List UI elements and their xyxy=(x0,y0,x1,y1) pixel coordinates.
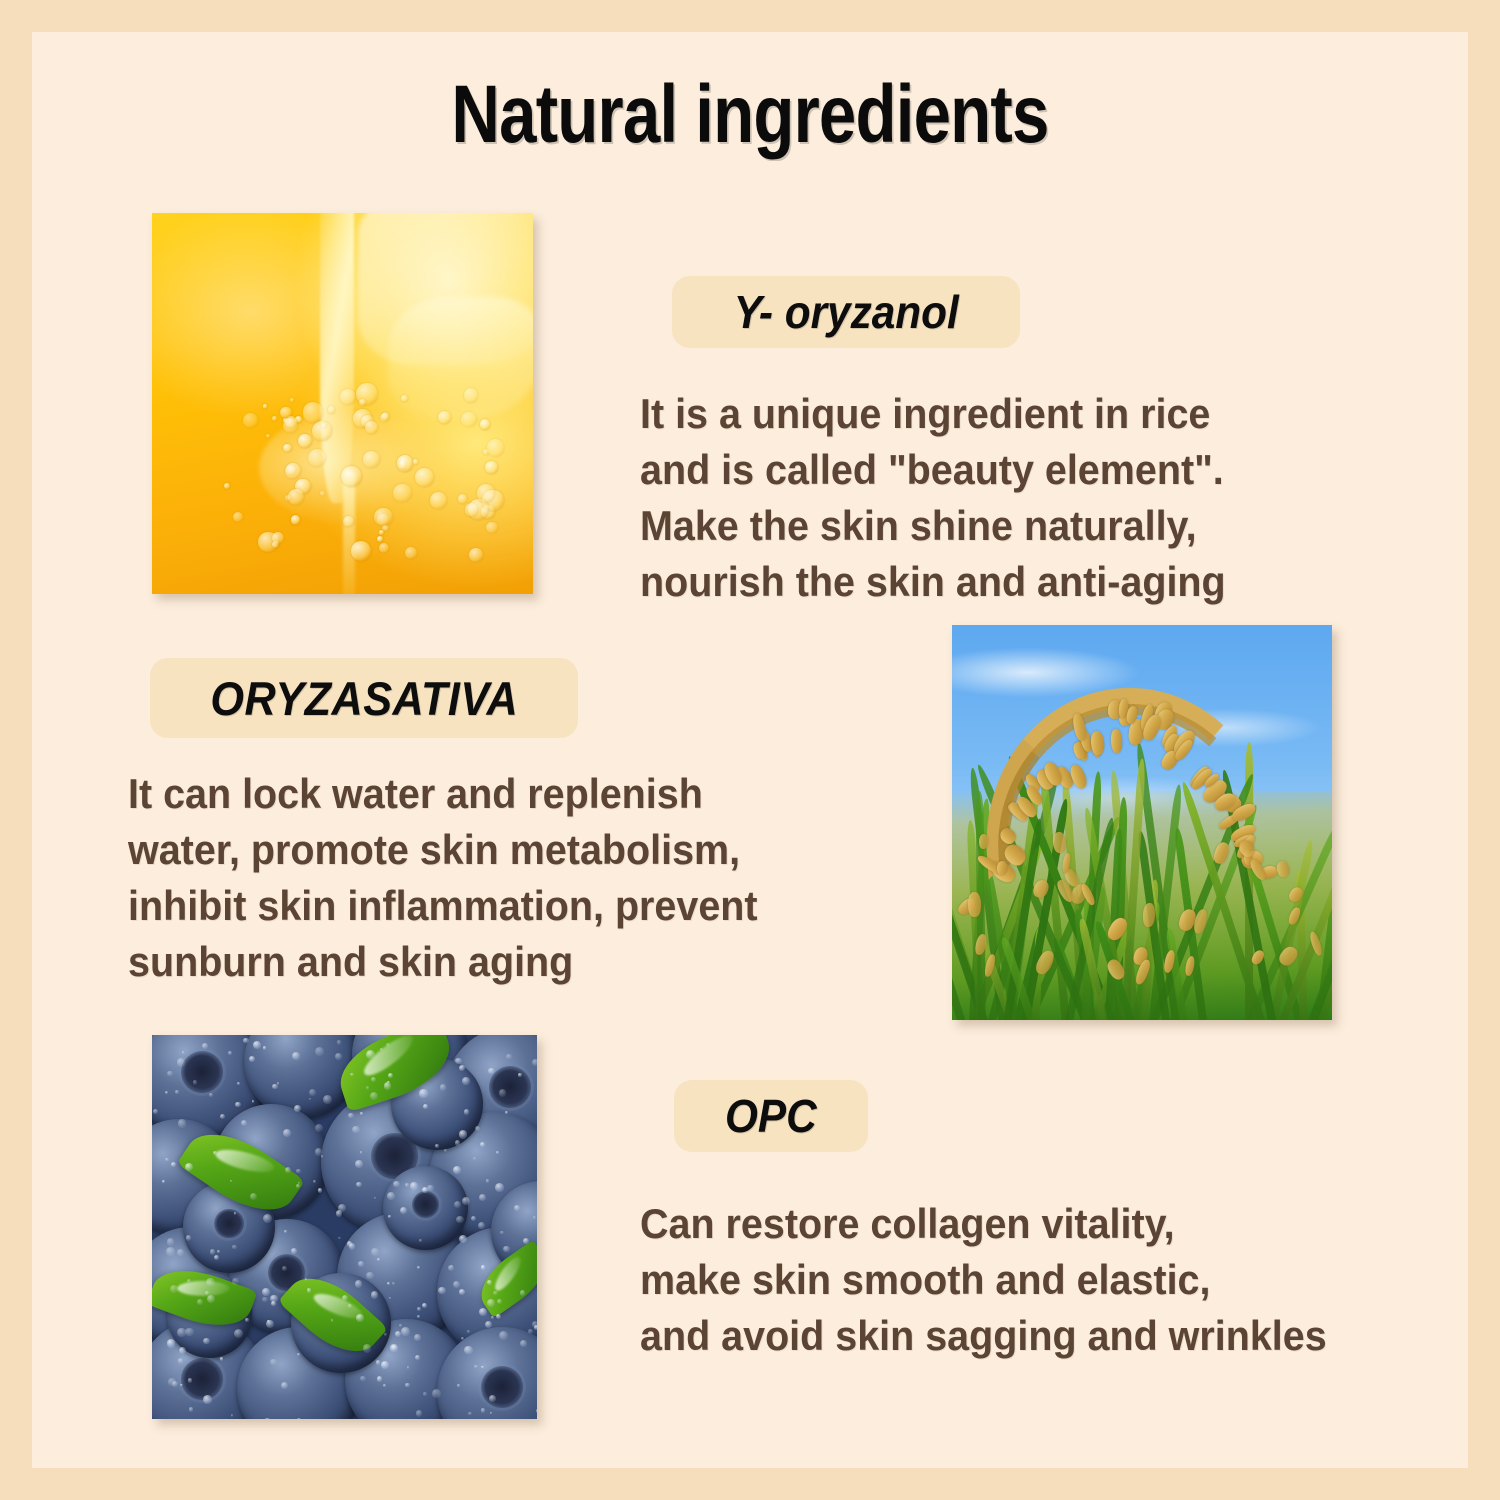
water-droplet xyxy=(528,1329,533,1334)
water-droplet xyxy=(180,1384,183,1387)
juice-bubble xyxy=(377,536,383,542)
water-droplet xyxy=(457,1384,460,1387)
juice-bubble xyxy=(487,439,505,457)
juice-bubble xyxy=(380,413,389,422)
water-droplet xyxy=(241,1120,247,1126)
water-droplet xyxy=(438,1287,445,1294)
water-droplet xyxy=(185,1163,193,1171)
water-droplet xyxy=(417,1307,421,1311)
juice-bubble xyxy=(458,494,468,504)
juice-bubble xyxy=(397,455,414,472)
water-droplet xyxy=(520,1340,527,1347)
juice-bubble xyxy=(283,418,298,433)
water-droplet xyxy=(348,1304,351,1307)
water-droplet xyxy=(487,1299,495,1307)
juice-bubble xyxy=(224,483,230,489)
water-droplet xyxy=(440,1084,447,1091)
water-droplet xyxy=(220,1357,223,1360)
water-droplet xyxy=(479,1194,486,1201)
water-droplet xyxy=(165,1158,168,1161)
juice-bubble xyxy=(430,492,447,509)
water-droplet xyxy=(267,1320,269,1322)
water-droplet xyxy=(188,1378,192,1382)
heading-pill-oryzanol: Y- oryzanol xyxy=(672,276,1020,348)
juice-bubble xyxy=(283,444,291,452)
juice-bubble xyxy=(303,402,324,423)
water-droplet xyxy=(366,1272,374,1280)
water-droplet xyxy=(366,1086,370,1090)
blueberries-photo xyxy=(152,1035,537,1419)
juice-bubble xyxy=(320,491,325,496)
water-droplet xyxy=(356,1314,363,1321)
juice-bubble xyxy=(328,406,335,413)
juice-bubble xyxy=(343,516,353,526)
body-text-oryzanol: It is a unique ingredient in rice and is… xyxy=(640,386,1336,610)
water-droplet xyxy=(479,1308,487,1316)
water-droplet xyxy=(366,1050,375,1059)
water-droplet xyxy=(263,1214,272,1223)
water-droplet xyxy=(459,1289,465,1295)
body-text-opc: Can restore collagen vitality, make skin… xyxy=(640,1196,1411,1364)
juice-bubble xyxy=(280,407,292,419)
water-droplet xyxy=(384,1333,387,1336)
water-droplet xyxy=(206,1278,214,1286)
water-droplet xyxy=(234,1329,243,1338)
body-text-oryzasativa: It can lock water and replenish water, p… xyxy=(128,766,880,990)
water-droplet xyxy=(499,1089,506,1096)
water-droplet xyxy=(363,1344,371,1352)
water-droplet xyxy=(193,1080,197,1084)
water-droplet xyxy=(297,1418,301,1419)
water-droplet xyxy=(416,1410,423,1417)
heading-pill-opc: OPC xyxy=(674,1080,868,1152)
rice-grain xyxy=(967,892,981,918)
water-droplet xyxy=(323,1095,332,1104)
water-droplet xyxy=(187,1279,191,1283)
water-droplet xyxy=(177,1249,184,1256)
water-droplet xyxy=(313,1180,316,1183)
orange-juice-photo xyxy=(152,213,533,594)
water-droplet xyxy=(390,1344,397,1351)
water-droplet xyxy=(410,1182,418,1190)
water-droplet xyxy=(282,1266,287,1271)
water-droplet xyxy=(377,1258,380,1261)
water-droplet xyxy=(166,1247,175,1256)
water-droplet xyxy=(249,1056,255,1062)
rice-field-photo xyxy=(952,625,1332,1020)
juice-bubble xyxy=(266,434,270,438)
heading-label-oryzasativa: ORYZASATIVA xyxy=(210,671,518,726)
water-droplet xyxy=(376,1360,380,1364)
water-droplet xyxy=(270,1359,276,1365)
water-droplet xyxy=(203,1395,212,1404)
water-droplet xyxy=(245,1318,249,1322)
water-droplet xyxy=(296,1169,300,1173)
water-droplet xyxy=(505,1111,508,1114)
water-droplet xyxy=(485,1321,492,1328)
water-droplet xyxy=(371,1291,378,1298)
water-droplet xyxy=(250,1193,257,1200)
water-droplet xyxy=(422,1187,428,1193)
water-droplet xyxy=(371,1248,379,1256)
water-droplet xyxy=(500,1231,503,1234)
rice-grain xyxy=(1143,903,1155,927)
water-droplet xyxy=(232,1245,236,1249)
water-droplet xyxy=(178,1358,183,1363)
water-droplet xyxy=(185,1328,193,1336)
water-droplet xyxy=(389,1297,391,1299)
water-droplet xyxy=(237,1082,240,1085)
water-droplet xyxy=(153,1109,158,1114)
water-droplet xyxy=(456,1216,464,1224)
water-droplet xyxy=(401,1327,410,1336)
water-droplet xyxy=(197,1299,203,1305)
water-droplet xyxy=(444,1149,447,1152)
water-droplet xyxy=(471,1216,476,1221)
juice-bubble xyxy=(365,421,378,434)
water-droplet xyxy=(167,1071,172,1076)
water-droplet xyxy=(178,1119,186,1127)
water-droplet xyxy=(210,1249,216,1255)
water-droplet xyxy=(356,1182,362,1188)
water-droplet xyxy=(337,1040,341,1044)
water-droplet xyxy=(468,1412,472,1416)
blueberry xyxy=(383,1166,468,1250)
leaf-highlight xyxy=(177,1281,229,1296)
water-droplet xyxy=(532,1321,537,1328)
ingredient-poster: Natural ingredients Y- oryzanol It is a … xyxy=(0,0,1500,1500)
water-droplet xyxy=(370,1092,378,1100)
rice-grain xyxy=(997,861,1007,875)
water-droplet xyxy=(381,1361,389,1369)
water-droplet xyxy=(462,1077,470,1085)
water-droplet xyxy=(489,1395,496,1402)
water-droplet xyxy=(388,1073,393,1078)
water-droplet xyxy=(309,1098,311,1100)
juice-bubble xyxy=(469,548,483,562)
water-droplet xyxy=(496,1151,499,1154)
juice-bubble xyxy=(291,515,301,525)
water-droplet xyxy=(167,1339,175,1347)
juice-bubble xyxy=(298,434,312,448)
water-droplet xyxy=(490,1412,492,1414)
juice-bubble xyxy=(312,421,332,441)
water-droplet xyxy=(360,1112,363,1115)
juice-bubble xyxy=(359,399,366,406)
water-droplet xyxy=(419,1089,427,1097)
juice-bubble xyxy=(243,413,258,428)
water-droplet xyxy=(481,1408,485,1412)
water-droplet xyxy=(243,1038,249,1044)
water-droplet xyxy=(220,1114,225,1119)
water-droplet xyxy=(177,1058,186,1067)
water-droplet xyxy=(228,1051,232,1055)
water-droplet xyxy=(264,1418,270,1419)
water-droplet xyxy=(481,1366,483,1368)
water-droplet xyxy=(473,1157,476,1160)
water-droplet xyxy=(533,1216,535,1218)
water-droplet xyxy=(481,1265,486,1270)
water-droplet xyxy=(213,1151,217,1155)
water-droplet xyxy=(360,1151,362,1153)
water-droplet xyxy=(284,1230,287,1233)
water-droplet xyxy=(338,1204,346,1212)
water-droplet xyxy=(263,1046,266,1049)
water-droplet xyxy=(358,1261,364,1267)
water-droplet xyxy=(172,1381,178,1387)
juice-bubble xyxy=(486,522,497,533)
water-droplet xyxy=(536,1409,537,1414)
heading-label-oryzanol: Y- oryzanol xyxy=(734,285,959,339)
water-droplet xyxy=(205,1291,209,1295)
page-title: Natural ingredients xyxy=(135,74,1365,156)
water-droplet xyxy=(495,1183,504,1192)
water-droplet xyxy=(165,1091,168,1094)
water-droplet xyxy=(360,1376,365,1381)
juice-bubble xyxy=(379,530,384,535)
water-droplet xyxy=(432,1389,441,1398)
water-droplet xyxy=(467,1330,469,1332)
heading-label-opc: OPC xyxy=(725,1089,817,1143)
water-droplet xyxy=(532,1059,537,1066)
water-droplet xyxy=(407,1366,410,1369)
water-droplet xyxy=(427,1185,433,1191)
juice-bubble xyxy=(351,541,371,561)
juice-bubble xyxy=(308,449,326,467)
water-droplet xyxy=(459,1130,467,1138)
heading-pill-oryzasativa: ORYZASATIVA xyxy=(150,658,578,738)
water-droplet xyxy=(167,1238,174,1245)
water-droplet xyxy=(307,1288,311,1292)
juice-bubble xyxy=(477,484,496,503)
juice-bubble xyxy=(374,508,393,527)
water-droplet xyxy=(459,1065,465,1071)
water-droplet xyxy=(271,1301,276,1306)
water-droplet xyxy=(518,1073,521,1076)
water-droplet xyxy=(488,1068,494,1074)
juice-bubble xyxy=(285,463,301,479)
water-droplet xyxy=(203,1338,209,1344)
water-droplet xyxy=(342,1295,348,1301)
water-droplet xyxy=(355,1160,363,1168)
water-droplet xyxy=(493,1291,497,1295)
water-droplet xyxy=(321,1155,323,1157)
water-droplet xyxy=(386,1043,390,1047)
water-droplet xyxy=(177,1328,185,1336)
juice-bubble xyxy=(363,451,380,468)
water-droplet xyxy=(232,1278,238,1284)
water-droplet xyxy=(335,1053,341,1059)
juice-bubble xyxy=(464,388,478,402)
water-droplet xyxy=(464,1109,470,1115)
juice-bubble xyxy=(480,419,491,430)
juice-bubble xyxy=(415,468,434,487)
water-droplet xyxy=(405,1383,410,1388)
juice-highlight-ice-secondary xyxy=(388,297,533,419)
water-droplet xyxy=(503,1246,510,1253)
